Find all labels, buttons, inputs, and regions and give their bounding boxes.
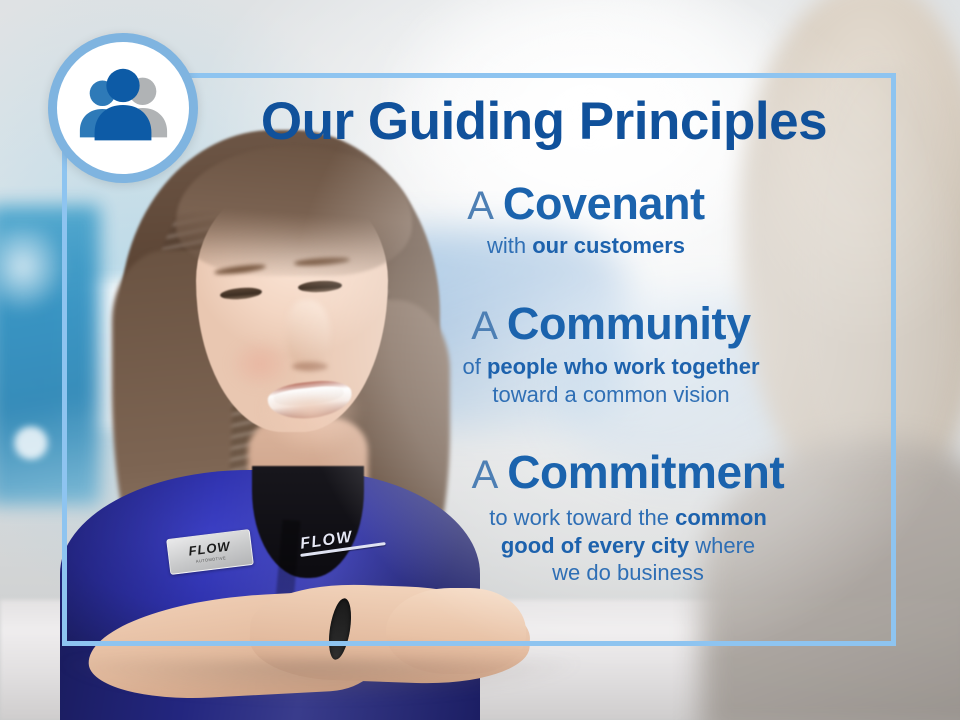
principle-community-article: A (471, 304, 507, 348)
subject-cheek (228, 338, 292, 390)
principle-covenant-heading: A Covenant (272, 180, 900, 227)
principle-commitment-sub-post: where (689, 533, 755, 558)
principle-commitment-sub-line3: we do business (356, 559, 900, 587)
guiding-principles-graphic: FLOW FLOW AUTOMOTIVE Our Guiding Princip… (0, 0, 960, 720)
arm-table-shadow (60, 660, 580, 700)
principle-commitment-sub-pre: to work toward the (489, 505, 675, 530)
principle-commitment-sub-line2: good of every city where (356, 532, 900, 560)
principle-covenant-keyword: Covenant (503, 178, 705, 229)
principle-community-sub-line1: of people who work together (322, 353, 900, 381)
principle-community-subtext: of people who work together toward a com… (322, 353, 900, 408)
people-group-icon (74, 59, 172, 157)
principle-commitment-sub-bold: common (675, 505, 767, 530)
principle-community-sub-bold: people who work together (487, 354, 760, 379)
principles-list: A Covenant with our customers A Communit… (300, 180, 900, 593)
principle-commitment-sub-line1: to work toward the common (356, 504, 900, 532)
principle-covenant-subtext: with our customers (272, 232, 900, 260)
principle-community-heading: A Community (322, 300, 900, 347)
principle-commitment-sub-bold2: good of every city (501, 533, 689, 558)
principle-community-keyword: Community (507, 298, 751, 349)
principle-commitment-keyword: Commitment (507, 446, 784, 498)
people-group-badge (48, 33, 198, 183)
principle-commitment: A Commitment to work toward the common g… (356, 448, 900, 587)
page-title: Our Guiding Principles (214, 95, 874, 148)
principle-commitment-subtext: to work toward the common good of every … (356, 504, 900, 587)
principle-commitment-article: A (472, 453, 508, 497)
principle-covenant-sub-pre: with (487, 233, 532, 258)
principle-community-sub-pre: of (462, 354, 486, 379)
principle-community-sub-line2: toward a common vision (322, 381, 900, 409)
principle-covenant-sub-bold: our customers (532, 233, 685, 258)
principle-community: A Community of people who work together … (322, 300, 900, 408)
principle-covenant-article: A (467, 184, 503, 228)
principle-covenant: A Covenant with our customers (272, 180, 900, 260)
principle-commitment-heading: A Commitment (356, 448, 900, 496)
